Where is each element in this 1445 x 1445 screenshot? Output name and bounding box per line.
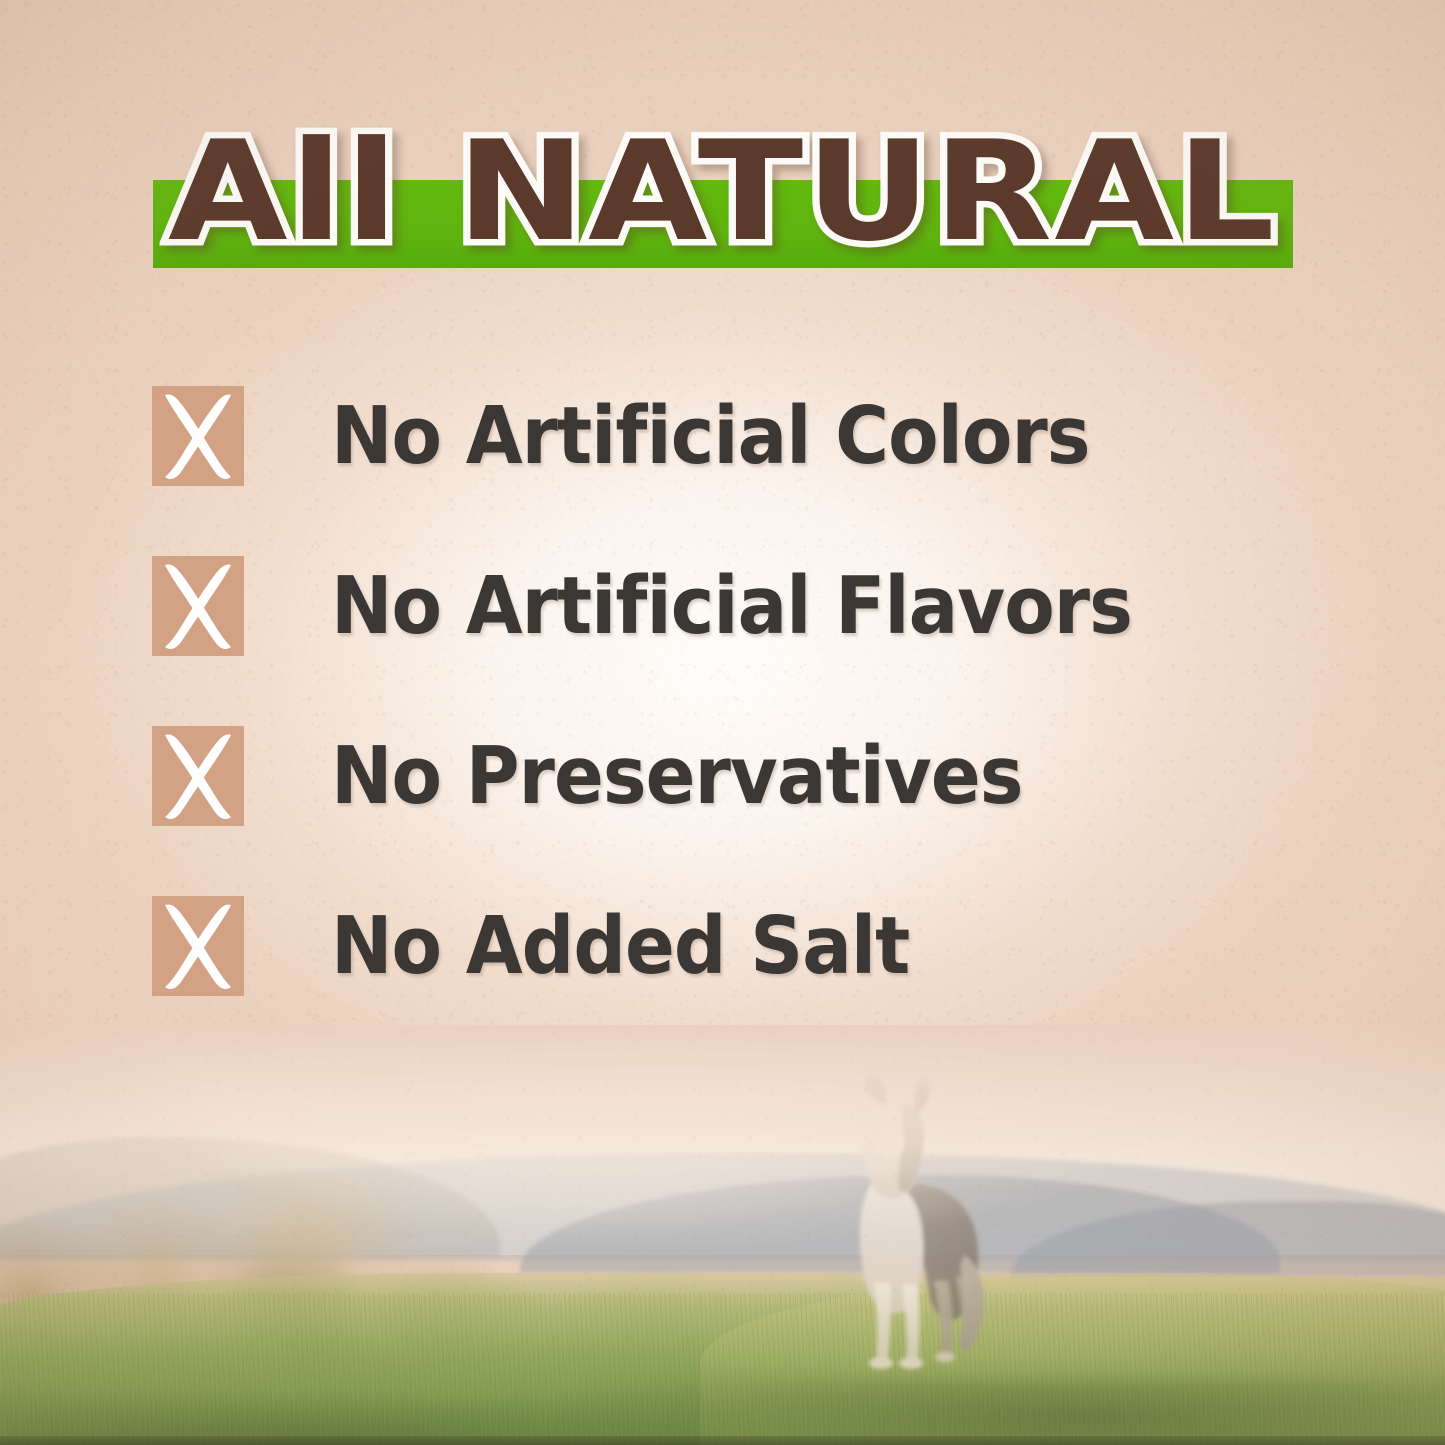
list-item: No Artificial Colors — [152, 384, 1352, 488]
list-item-label: No Added Salt — [331, 905, 909, 987]
list-item: No Artificial Flavors — [152, 554, 1352, 658]
list-item: No Preservatives — [152, 724, 1352, 828]
list-item-label: No Artificial Colors — [331, 395, 1090, 477]
page-title: All NATURAL — [0, 112, 1445, 272]
claims-list: No Artificial Colors No Artificial Flavo… — [152, 384, 1352, 998]
title-banner: All NATURAL — [0, 112, 1445, 290]
x-mark-icon — [152, 726, 244, 826]
list-item: No Added Salt — [152, 894, 1352, 998]
list-item-label: No Artificial Flavors — [331, 565, 1132, 647]
photo-bottom-edge — [0, 1436, 1445, 1445]
list-item-label: No Preservatives — [331, 735, 1023, 817]
x-mark-icon — [152, 556, 244, 656]
dog-illustration — [778, 1069, 1018, 1399]
landscape-photo — [0, 1025, 1445, 1445]
x-mark-icon — [152, 896, 244, 996]
all-natural-product-claims-graphic: All NATURAL No Artificial Colors No Arti… — [0, 0, 1445, 1445]
x-mark-icon — [152, 386, 244, 486]
